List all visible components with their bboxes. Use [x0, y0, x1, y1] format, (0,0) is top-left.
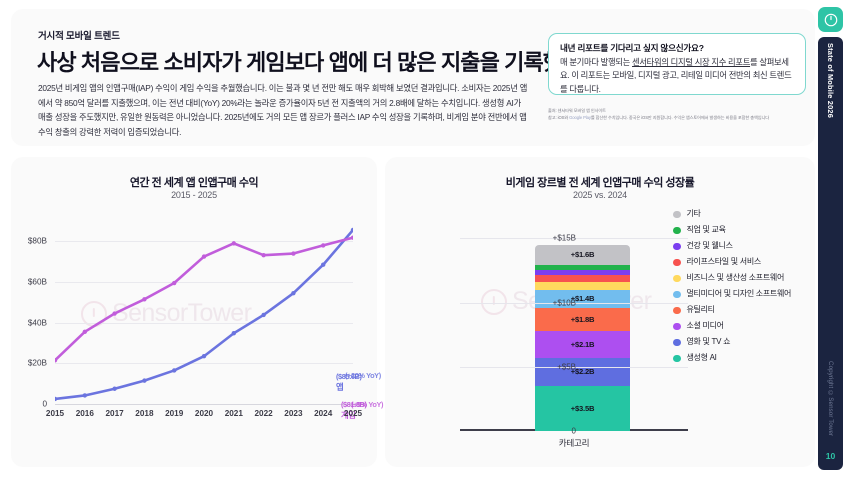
legend-color-dot: [673, 339, 681, 347]
legend-item[interactable]: 유틸리티: [673, 305, 809, 316]
line-chart-title: 연간 전 세계 앱 인앱구매 수익: [11, 174, 377, 190]
x-axis-tick: 2021: [225, 409, 243, 418]
side-rail-copyright: Copyright ©Sensor Tower: [827, 361, 834, 436]
legend-color-dot: [673, 227, 681, 235]
page-title: 사상 처음으로 소비자가 게임보다 앱에 더 많은 지출을 기록했습니다: [37, 45, 620, 77]
legend-item[interactable]: 건강 및 웰니스: [673, 241, 809, 252]
bar-chart-subtitle: 2025 vs. 2024: [385, 190, 815, 200]
game-growth-label: (+5% YoY): [351, 400, 383, 409]
bar-segment[interactable]: +$1.6B: [535, 245, 630, 266]
bar-segment-label: +$1.8B: [571, 315, 595, 324]
sensor-tower-logo-icon: [823, 12, 839, 28]
y-axis-tick: $40B: [28, 318, 47, 327]
data-point[interactable]: [202, 354, 206, 358]
legend-color-dot: [673, 291, 681, 299]
data-point[interactable]: [232, 331, 236, 335]
x-axis-tick: 2018: [135, 409, 153, 418]
data-point[interactable]: [172, 281, 176, 285]
x-axis-tick: 2024: [314, 409, 332, 418]
legend-label: 기타: [687, 209, 701, 220]
data-point[interactable]: [232, 241, 236, 245]
data-point[interactable]: [321, 263, 325, 267]
x-axis-tick: 2019: [165, 409, 183, 418]
footnote-note-post: 를 합산한 수치입니다. 중국은 iOS만 지원합니다. 수익은 앱스토어에서 …: [591, 115, 769, 120]
data-point[interactable]: [261, 313, 265, 317]
brand-logo-badge[interactable]: [818, 7, 843, 32]
legend-color-dot: [673, 355, 681, 363]
data-point[interactable]: [55, 397, 57, 401]
data-point[interactable]: [83, 393, 87, 397]
bar-segment[interactable]: +$1.8B: [535, 308, 630, 331]
footnote-source: 출처: 센서타워 모바일 앱 인사이트: [548, 108, 813, 115]
x-axis-tick: 2025: [344, 409, 362, 418]
y-axis-tick: $80B: [28, 237, 47, 246]
side-rail-title: State of Mobile 2026: [826, 43, 835, 118]
eyebrow-label: 거시적 모바일 트렌드: [38, 28, 120, 42]
y-axis-tick: +$10B: [553, 298, 576, 307]
y-axis-tick: +$5B: [557, 362, 576, 371]
bar-x-axis-label: 카테고리: [460, 437, 688, 449]
data-point[interactable]: [291, 291, 295, 295]
y-axis-tick: 0: [572, 427, 576, 436]
footnote-note-pre: 참고: iOS와: [548, 115, 569, 120]
callout-body: 매 분기마다 발행되는 센서타워의 디지털 시장 지수 리포트를 살펴보세요. …: [560, 56, 794, 96]
x-axis-tick: 2022: [254, 409, 272, 418]
bar-chart-legend: 기타직업 및 교육건강 및 웰니스라이프스타일 및 서비스비즈니스 및 생산성 …: [673, 209, 809, 369]
callout-text-pre: 매 분기마다 발행되는: [560, 57, 632, 67]
legend-label: 멀티미디어 및 디자인 소프트웨어: [687, 289, 792, 300]
x-axis-tick: 2020: [195, 409, 213, 418]
data-point[interactable]: [172, 368, 176, 372]
legend-item[interactable]: 라이프스타일 및 서비스: [673, 257, 809, 268]
legend-item[interactable]: 직업 및 교육: [673, 225, 809, 236]
y-axis-tick: +$15B: [553, 234, 576, 243]
line-chart-subtitle: 2015 - 2025: [11, 190, 377, 200]
legend-color-dot: [673, 259, 681, 267]
legend-label: 비즈니스 및 생산성 소프트웨어: [687, 273, 785, 284]
legend-item[interactable]: 기타: [673, 209, 809, 220]
line-plot-area[interactable]: 0$20B$40B$60B$80B: [55, 221, 353, 404]
app-growth-label: (+20% YoY): [345, 371, 381, 380]
line-x-axis: [55, 404, 355, 405]
data-point[interactable]: [142, 297, 146, 301]
callout-box: 내년 리포트를 기다리고 싶지 않으신가요? 매 분기마다 발행되는 센서타워의…: [548, 33, 806, 95]
slide-page: 거시적 모바일 트렌드 사상 처음으로 소비자가 게임보다 앱에 더 많은 지출…: [0, 0, 850, 477]
line-chart-card[interactable]: 연간 전 세계 앱 인앱구매 수익 2015 - 2025 SensorTowe…: [11, 157, 377, 467]
line-series-group: [55, 221, 353, 404]
y-axis-tick: $20B: [28, 359, 47, 368]
legend-item[interactable]: 영화 및 TV 쇼: [673, 337, 809, 348]
data-point[interactable]: [291, 251, 295, 255]
legend-color-dot: [673, 243, 681, 251]
bar-chart-title: 비게임 장르별 전 세계 인앱구매 수익 성장률: [385, 174, 815, 190]
data-point[interactable]: [112, 311, 116, 315]
legend-label: 영화 및 TV 쇼: [687, 337, 731, 348]
legend-color-dot: [673, 323, 681, 331]
x-axis-tick: 2016: [76, 409, 94, 418]
side-rail: State of Mobile 2026 Copyright ©Sensor T…: [818, 37, 843, 470]
x-axis-tick: 2023: [284, 409, 302, 418]
legend-label: 건강 및 웰니스: [687, 241, 733, 252]
bar-segment[interactable]: [535, 282, 630, 290]
data-point[interactable]: [261, 253, 265, 257]
footnotes: 출처: 센서타워 모바일 앱 인사이트 참고: iOS와 Google Play…: [548, 108, 813, 122]
bar-chart-card[interactable]: 비게임 장르별 전 세계 인앱구매 수익 성장률 2025 vs. 2024 S…: [385, 157, 815, 467]
legend-item[interactable]: 멀티미디어 및 디자인 소프트웨어: [673, 289, 809, 300]
x-axis-tick: 2015: [46, 409, 64, 418]
bar-segment[interactable]: +$2.2B: [535, 358, 630, 386]
legend-item[interactable]: 소셜 미디어: [673, 321, 809, 332]
footnote-note-accent: Google Play: [569, 115, 591, 120]
body-paragraph: 2025년 비게임 앱의 인앱구매(IAP) 수익이 게임 수익을 추월했습니다…: [38, 81, 530, 139]
bar-segment[interactable]: +$3.5B: [535, 386, 630, 431]
data-point[interactable]: [321, 243, 325, 247]
legend-color-dot: [673, 211, 681, 219]
bar-segment[interactable]: +$2.1B: [535, 331, 630, 358]
legend-label: 생성형 AI: [687, 353, 717, 364]
legend-label: 라이프스타일 및 서비스: [687, 257, 761, 268]
data-point[interactable]: [202, 254, 206, 258]
callout-title: 내년 리포트를 기다리고 싶지 않으신가요?: [560, 42, 794, 54]
legend-item[interactable]: 비즈니스 및 생산성 소프트웨어: [673, 273, 809, 284]
data-point[interactable]: [83, 330, 87, 334]
y-axis-tick: 0: [42, 400, 47, 409]
data-point[interactable]: [142, 378, 146, 382]
bar-segment[interactable]: +$1.4B: [535, 290, 630, 308]
digital-market-index-link[interactable]: 센서타워의 디지털 시장 지수 리포트: [632, 57, 750, 67]
legend-label: 소셜 미디어: [687, 321, 724, 332]
legend-label: 유틸리티: [687, 305, 715, 316]
data-point[interactable]: [112, 387, 116, 391]
legend-label: 직업 및 교육: [687, 225, 726, 236]
bar-segment-label: +$3.5B: [571, 404, 595, 413]
y-axis-tick: $60B: [28, 278, 47, 287]
footnote-note: 참고: iOS와 Google Play를 합산한 수치입니다. 중국은 iOS…: [548, 115, 813, 122]
legend-color-dot: [673, 275, 681, 283]
page-number: 10: [818, 451, 843, 461]
bar-segment-label: +$2.1B: [571, 340, 595, 349]
legend-item[interactable]: 생성형 AI: [673, 353, 809, 364]
app-end-label-name: 앱: [336, 381, 362, 393]
stacked-bar[interactable]: +$1.6B+$1.4B+$1.8B+$2.1B+$2.2B+$3.5B: [535, 245, 630, 432]
x-axis-tick: 2017: [105, 409, 123, 418]
bar-segment-label: +$1.6B: [571, 250, 595, 259]
legend-color-dot: [673, 307, 681, 315]
